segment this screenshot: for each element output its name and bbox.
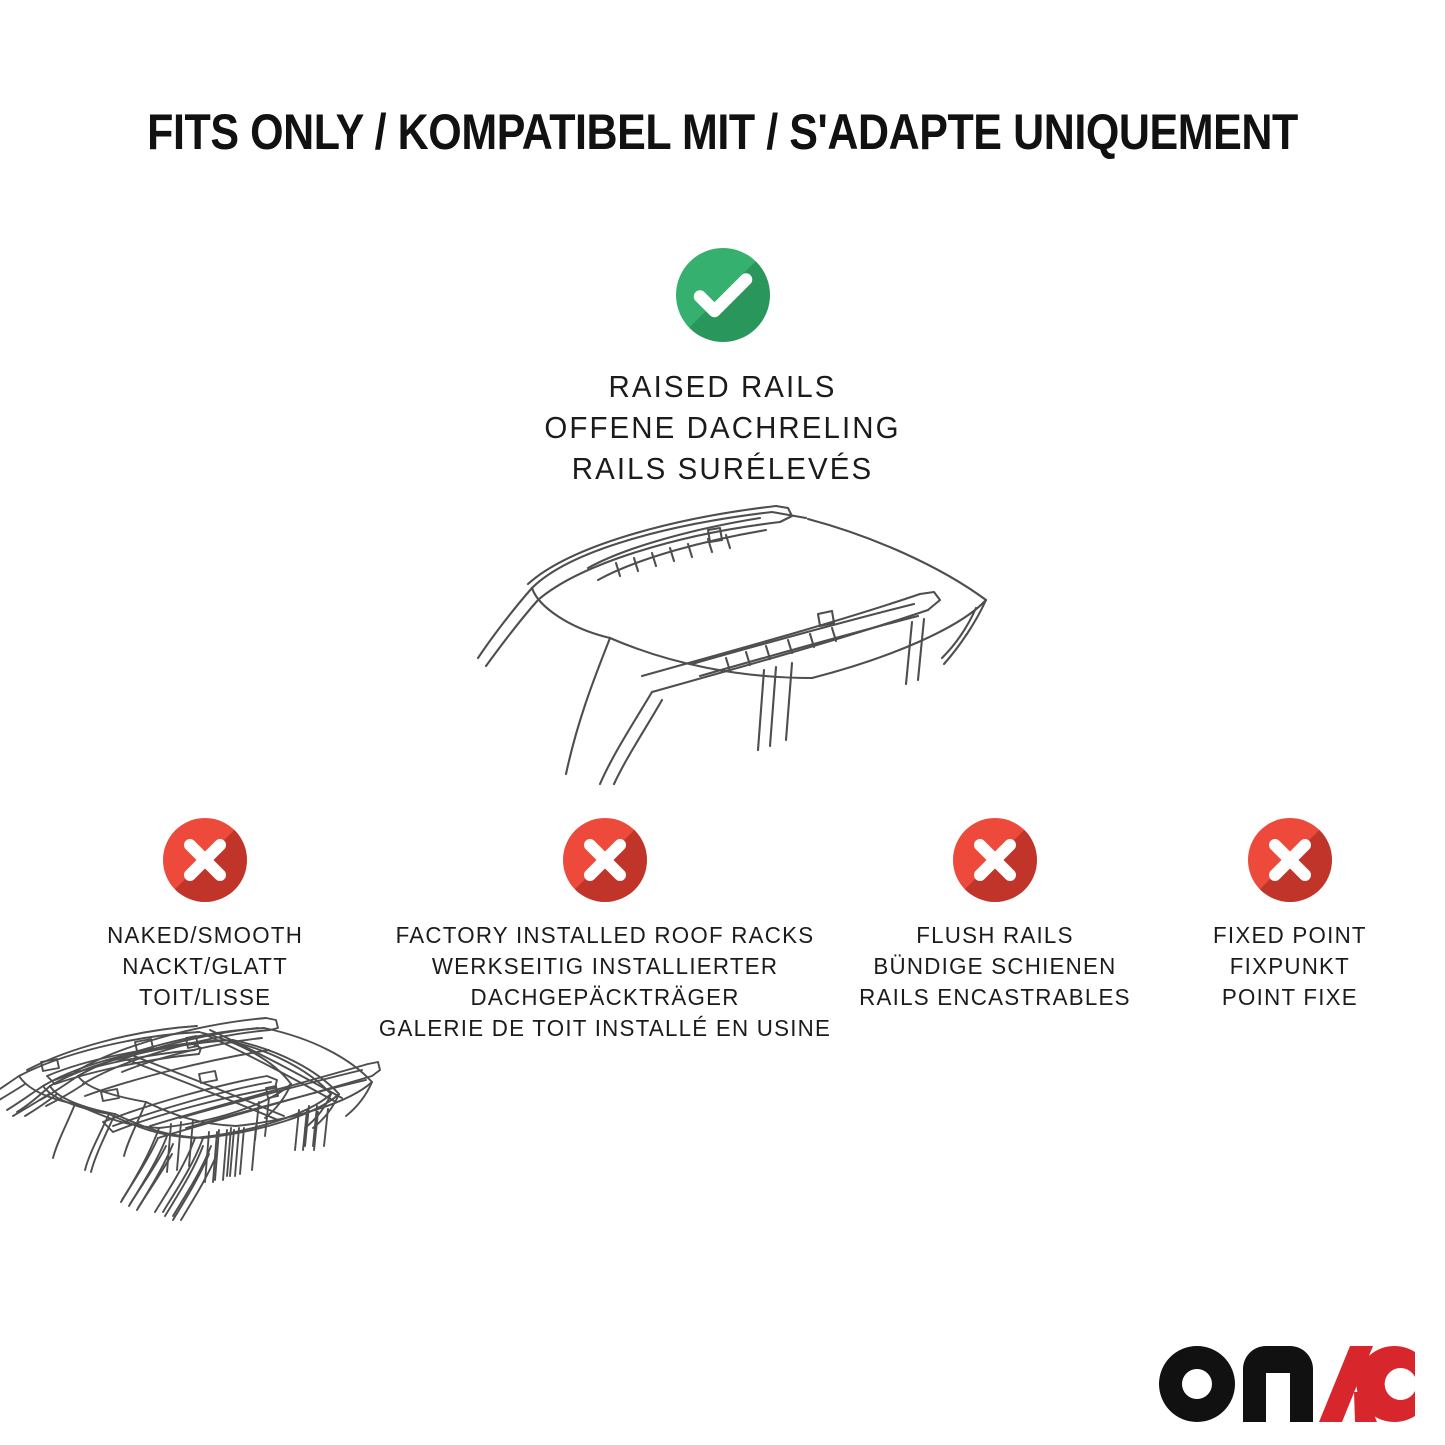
incompatible-caption: NAKED/SMOOTH NACKT/GLATT TOIT/LISSE <box>107 920 303 1013</box>
incompatible-caption: FIXED POINT FIXPUNKT POINT FIXE <box>1213 920 1367 1013</box>
caption-line-de: BÜNDIGE SCHIENEN <box>859 951 1131 982</box>
caption-line-fr: GALERIE DE TOIT INSTALLÉ EN USINE <box>379 1013 831 1044</box>
incompatible-caption: FACTORY INSTALLED ROOF RACKS WERKSEITIG … <box>379 920 831 1044</box>
compatible-line-de: OFFENE DACHRELING <box>544 407 900 448</box>
caption-line-fr: POINT FIXE <box>1213 982 1367 1013</box>
caption-line-de-1: WERKSEITIG INSTALLIERTER <box>379 951 831 982</box>
x-circle-icon <box>563 818 647 902</box>
compatible-block: RAISED RAILS OFFENE DACHRELING RAILS SUR… <box>0 248 1445 489</box>
caption-line-en: FACTORY INSTALLED ROOF RACKS <box>379 920 831 951</box>
incompatible-item-flush-rails: FLUSH RAILS BÜNDIGE SCHIENEN RAILS ENCAS… <box>805 818 1185 1013</box>
check-circle-icon <box>676 248 770 342</box>
car-roof-fixed-point-illustration <box>0 1014 295 1244</box>
x-circle-icon <box>1248 818 1332 902</box>
caption-line-de: FIXPUNKT <box>1213 951 1367 982</box>
caption-line-en: FIXED POINT <box>1213 920 1367 951</box>
caption-line-de: NACKT/GLATT <box>107 951 303 982</box>
incompatible-row: NAKED/SMOOTH NACKT/GLATT TOIT/LISSE <box>0 818 1445 1258</box>
page-title: FITS ONLY / KOMPATIBEL MIT / S'ADAPTE UN… <box>101 104 1344 160</box>
caption-line-en: FLUSH RAILS <box>859 920 1131 951</box>
x-circle-icon <box>163 818 247 902</box>
incompatible-item-naked-smooth: NAKED/SMOOTH NACKT/GLATT TOIT/LISSE <box>25 818 385 1013</box>
incompatible-item-fixed-point: FIXED POINT FIXPUNKT POINT FIXE <box>1150 818 1430 1013</box>
car-roof-raised-rails-illustration <box>420 488 1030 788</box>
incompatible-caption: FLUSH RAILS BÜNDIGE SCHIENEN RAILS ENCAS… <box>859 920 1131 1013</box>
caption-line-de-2: DACHGEPÄCKTRÄGER <box>379 982 831 1013</box>
x-circle-icon <box>953 818 1037 902</box>
compatibility-infographic: FITS ONLY / KOMPATIBEL MIT / S'ADAPTE UN… <box>0 0 1445 1445</box>
compatible-caption: RAISED RAILS OFFENE DACHRELING RAILS SUR… <box>544 366 900 489</box>
caption-line-fr: RAILS ENCASTRABLES <box>859 982 1131 1013</box>
compatible-line-en: RAISED RAILS <box>544 366 900 407</box>
incompatible-item-factory-roof-racks: FACTORY INSTALLED ROOF RACKS WERKSEITIG … <box>375 818 835 1044</box>
compatible-line-fr: RAILS SURÉLEVÉS <box>544 448 900 489</box>
omac-logo <box>1159 1343 1417 1429</box>
caption-line-en: NAKED/SMOOTH <box>107 920 303 951</box>
